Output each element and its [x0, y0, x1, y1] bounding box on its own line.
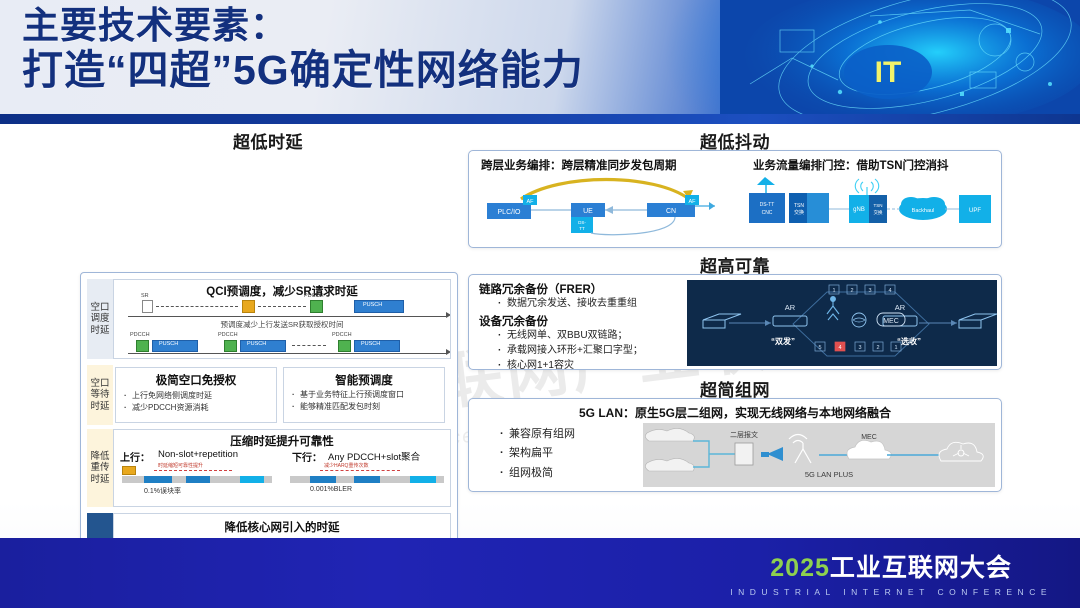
conference-logo-name-cn: 工业互联网大会: [830, 554, 1012, 582]
marker-label-b-pusch-3: PUSCH: [361, 341, 380, 347]
svg-text:5: 5: [818, 345, 821, 351]
retrans-bar-left-1: [144, 476, 172, 483]
simple-network-diagram: 二层报文 MEC: [643, 423, 995, 487]
svg-text:4: 4: [838, 345, 841, 351]
marker-label-b-pusch-2: PUSCH: [247, 341, 266, 347]
dash-3: [292, 345, 326, 346]
panel-ultra-simple-network: 5G LAN：原生5G层二组网，实现无线网络与本地网络融合 兼容原有组网 架构扁…: [468, 398, 1002, 492]
marker-label-pdcch-top: PDCCH: [304, 293, 324, 299]
svg-text:交换: 交换: [874, 209, 883, 216]
list-item: 基于业务特征上行预调度窗口: [300, 390, 440, 401]
row-body-air-scheduling: QCI预调度，减少SR请求时延 SR SR PDCCH PUSCH 预调度减少上: [113, 279, 451, 359]
timeline-bottom: [128, 353, 446, 354]
svg-text:2: 2: [876, 345, 879, 351]
slide-footer: 2025工业互联网大会 INDUSTRIAL INTERNET CONFEREN…: [0, 538, 1080, 608]
jitter-node-gnb: gNB: [853, 207, 865, 213]
retrans-uplink-label: 上行：: [120, 449, 150, 464]
latency-row-scheduling: 空口调度时延 QCI预调度，减少SR请求时延 SR SR PDCCH PUSCH: [87, 279, 451, 359]
retrans-anno-line-right: [320, 470, 400, 471]
reliability-block-0-head: 链路冗余备份（FRER）: [479, 281, 602, 297]
conference-logo: 2025工业互联网大会 INDUSTRIAL INTERNET CONFEREN…: [730, 548, 1052, 597]
slide-body: 工业互联网产业联盟 Alliance of Industrial Interne…: [0, 124, 1080, 608]
retrans-bar-left-2: [186, 476, 210, 483]
header-tech-graphic: IT: [720, 0, 1080, 114]
section-title-ultra-low-latency: 超低时延: [80, 128, 456, 153]
row-label-retransmission: 降低重传时延: [87, 429, 113, 507]
reliability-block-1-head: 设备冗余备份: [479, 313, 548, 329]
box-grant-free-bullets: 上行免网络侧调度时延 减少PDCCH资源消耗: [116, 390, 276, 413]
marker-label-pusch-top: PUSCH: [363, 302, 382, 308]
svg-text:4: 4: [888, 288, 891, 294]
retrans-bar-right-3: [410, 476, 436, 483]
retrans-uplink-text: Non-slot+repetition: [158, 449, 238, 460]
conference-logo-name-en: INDUSTRIAL INTERNET CONFERENCE: [730, 587, 1052, 597]
svg-text:交换: 交换: [794, 209, 804, 216]
svg-text:CNC: CNC: [762, 210, 773, 216]
header-logo-mark: IT: [875, 56, 902, 89]
row-title-retransmission: 压缩时延提升可靠性: [114, 430, 450, 449]
marker-label-b-pusch-1: PUSCH: [159, 341, 178, 347]
row-label-air-waiting: 空口等待时延: [87, 365, 113, 425]
marker-label-b-pdcch-2: PDCCH: [218, 332, 238, 338]
row-title-air-scheduling: QCI预调度，减少SR请求时延: [114, 280, 450, 299]
list-item: 上行免网络侧调度时延: [132, 390, 272, 402]
retrans-bar-right-1: [310, 476, 336, 483]
list-item: 无线网单、双BBU双链路；: [507, 328, 643, 343]
latency-row-retransmission: 降低重传时延 压缩时延提升可靠性 上行： Non-slot+repetition…: [87, 429, 451, 507]
marker-label-b-pdcch-3: PDCCH: [332, 332, 352, 338]
list-item: 架构扁平: [509, 444, 575, 463]
retrans-anno-right: 减少HARQ重传次数: [324, 462, 368, 469]
row-caption-air-scheduling: 预调度减少上行发送SR获取授权时间: [114, 319, 450, 330]
page-title-line1: 主要技术要素：: [22, 6, 584, 46]
marker-label-b-pdcch-1: PDCCH: [130, 332, 150, 338]
marker-b-pdcch-2: [224, 340, 237, 352]
reliability-label-dual-send: “双发”: [771, 336, 795, 346]
list-item: 组网极简: [509, 464, 575, 483]
header-accent-strip: [0, 114, 1080, 124]
retrans-downlink-text: Any PDCCH+slot聚合: [328, 449, 420, 463]
reliability-node-ar-right: AR: [895, 303, 906, 312]
svg-text:DS-: DS-: [578, 220, 586, 225]
simple-network-label-l2: 二层报文: [730, 430, 758, 439]
slide: IT 主要技术要素： 打造“四超”5G确定性网络能力 工业互联网产业联盟 All…: [0, 0, 1080, 608]
svg-text:DS-TT: DS-TT: [760, 202, 775, 208]
marker-sr-2: [242, 300, 255, 313]
jitter-node-cn: CN: [666, 208, 676, 215]
jitter-left-head: 跨层业务编排：跨层精准同步发包周期: [481, 157, 677, 173]
retrans-anno-left: 时延缩短可靠性提升: [158, 462, 203, 469]
jitter-diagram-right: DS-TT CNC TSN 交换 gNB TSN 交换 Back: [741, 173, 997, 243]
dash-2: [258, 306, 306, 307]
slide-header: IT 主要技术要素： 打造“四超”5G确定性网络能力: [0, 0, 1080, 114]
list-item: 数据冗余发送、接收去重重组: [507, 296, 637, 311]
jitter-diagram-left: PLC/IO AF UE DS- TT CN AF: [479, 173, 729, 243]
svg-text:TSN: TSN: [794, 203, 804, 209]
reliability-diagram: AR AR MEC: [687, 280, 997, 366]
jitter-node-upf: UPF: [969, 208, 981, 214]
reliability-block-1-bullets: 无线网单、双BBU双链路； 承载网接入环形+汇聚口字型； 核心网1+1容灾: [493, 328, 643, 373]
svg-text:3: 3: [868, 288, 871, 294]
page-title-line2: 打造“四超”5G确定性网络能力: [22, 48, 584, 92]
page-title: 主要技术要素： 打造“四超”5G确定性网络能力: [22, 6, 584, 92]
dash-1: [156, 306, 238, 307]
jitter-node-plcio: PLC/IO: [498, 209, 522, 216]
timeline-top: [128, 316, 446, 317]
timeline-bottom-arrow: [446, 349, 451, 355]
box-smart-prescheduling-title: 智能预调度: [284, 368, 444, 390]
reliability-label-select-recv: “选收”: [897, 336, 921, 346]
marker-b-pdcch-3: [338, 340, 351, 352]
retrans-downlink-label: 下行：: [292, 449, 322, 464]
svg-text:1: 1: [832, 288, 835, 294]
retrans-bar-right-2: [354, 476, 380, 483]
svg-text:AF: AF: [526, 199, 534, 205]
svg-text:2: 2: [850, 288, 853, 294]
svg-text:TSN: TSN: [874, 203, 883, 208]
marker-b-pdcch-1: [136, 340, 149, 352]
list-item: 承载网接入环形+汇聚口字型；: [507, 343, 643, 358]
jitter-node-backhaul: Backhaul: [912, 208, 935, 214]
list-item: 核心网1+1容灾: [507, 358, 643, 373]
marker-pdcch-top: [310, 300, 323, 313]
retrans-note-left: 0.1%误块率: [144, 486, 181, 496]
box-grant-free-title: 极简空口免授权: [116, 368, 276, 390]
row-title-core-network: 降低核心网引入的时延: [114, 514, 450, 535]
list-item: 兼容原有组网: [509, 425, 575, 444]
svg-text:AF: AF: [688, 199, 696, 205]
box-smart-prescheduling-bullets: 基于业务特征上行预调度窗口 能够精准匹配发包时刻: [284, 390, 444, 412]
row-body-retransmission: 压缩时延提升可靠性 上行： Non-slot+repetition 下行： An…: [113, 429, 451, 507]
list-item: 减少PDCCH资源消耗: [132, 402, 272, 414]
row-label-air-scheduling: 空口调度时延: [87, 279, 113, 359]
simple-network-subtitle: 5G LAN：原生5G层二组网，实现无线网络与本地网络融合: [469, 404, 1001, 421]
svg-text:TT: TT: [579, 226, 585, 231]
retrans-note-right: 0.001%BLER: [310, 486, 352, 493]
simple-network-label-5glanplus: 5G LAN PLUS: [805, 470, 853, 479]
retrans-bar-left-3: [240, 476, 264, 483]
box-grant-free: 极简空口免授权 上行免网络侧调度时延 减少PDCCH资源消耗: [115, 367, 277, 423]
latency-row-waiting: 空口等待时延 极简空口免授权 上行免网络侧调度时延 减少PDCCH资源消耗 智能…: [87, 365, 451, 425]
panel-ultra-low-jitter: 跨层业务编排：跨层精准同步发包周期 业务流量编排门控：借助TSN门控消抖 PLC…: [468, 150, 1002, 248]
conference-logo-year: 2025: [770, 554, 830, 582]
retrans-marker-a: [122, 466, 136, 475]
list-item-cont: 能够精准匹配发包时刻: [300, 401, 440, 413]
box-smart-prescheduling: 智能预调度 基于业务特征上行预调度窗口 能够精准匹配发包时刻: [283, 367, 445, 423]
reliability-node-mec: MEC: [883, 318, 899, 325]
svg-text:3: 3: [858, 345, 861, 351]
marker-sr-1: [142, 300, 153, 313]
timeline-top-arrow: [446, 312, 451, 318]
marker-label-sr-1: SR: [141, 293, 149, 299]
marker-label-sr-2: SR: [241, 293, 249, 299]
simple-network-bullets: 兼容原有组网 架构扁平 组网极简: [495, 425, 575, 483]
reliability-node-ar-left: AR: [785, 303, 796, 312]
jitter-node-ue: UE: [583, 208, 593, 215]
reliability-block-0-bullets: 数据冗余发送、接收去重重组: [493, 296, 637, 311]
row-body-air-waiting: 极简空口免授权 上行免网络侧调度时延 减少PDCCH资源消耗 智能预调度 基于业…: [113, 365, 451, 425]
conference-logo-main: 2025工业互联网大会: [730, 548, 1052, 584]
panel-ultra-high-reliability: 链路冗余备份（FRER） 数据冗余发送、接收去重重组 设备冗余备份 无线网单、双…: [468, 274, 1002, 370]
simple-network-label-mec: MEC: [861, 434, 877, 441]
jitter-right-head: 业务流量编排门控：借助TSN门控消抖: [753, 157, 949, 173]
retrans-anno-line-left: [154, 470, 232, 471]
